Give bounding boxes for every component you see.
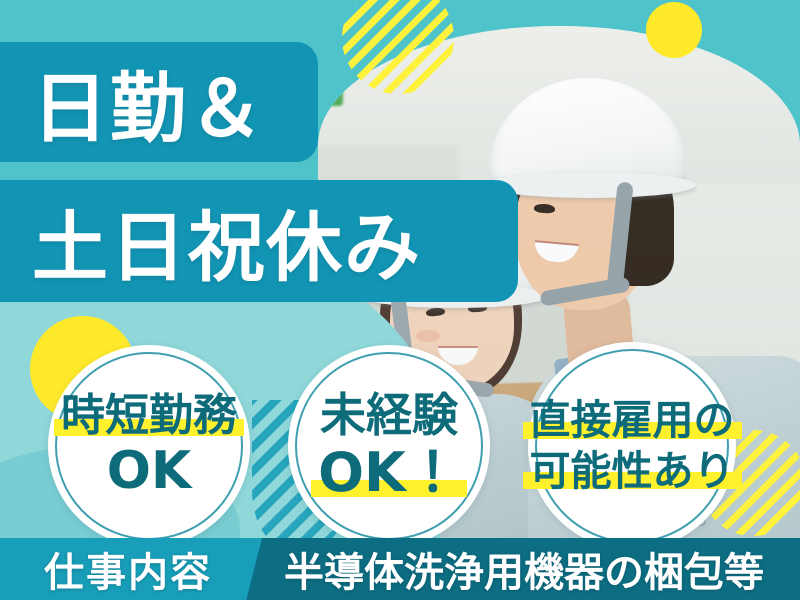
badge-no-experience: 未経験 OK！ — [288, 345, 490, 547]
bottom-bar-label: 仕事内容 — [44, 540, 212, 598]
badge-no-experience-line2: OK！ — [318, 444, 460, 501]
badge-short-hours-line2: OK — [107, 444, 192, 499]
headline-banner-secondary: 土日祝休み — [0, 180, 518, 302]
badge-short-hours: 時短勤務 OK — [48, 345, 250, 547]
badge-direct-employment-line1: 直接雇用の — [530, 399, 735, 442]
badge-short-hours-line1: 時短勤務 — [61, 393, 237, 440]
headline-text-line2: 土日祝休み — [32, 186, 422, 296]
dot-yellow-top-right-icon — [646, 2, 702, 58]
bottom-bar-label-section: 仕事内容 — [0, 538, 262, 600]
job-ad-banner: 日勤＆ 土日祝休み 時短勤務 OK 未経験 OK！ 直接雇用の 可能性あり 仕事… — [0, 0, 800, 600]
headline-text-line1: 日勤＆ — [32, 47, 266, 157]
bottom-bar-value: 半導体洗浄用機器の梱包等 — [284, 540, 764, 598]
badge-direct-employment-line2: 可能性あり — [530, 450, 735, 493]
bottom-bar: 仕事内容 半導体洗浄用機器の梱包等 — [0, 538, 800, 600]
headline-banner-primary: 日勤＆ — [0, 42, 318, 162]
badge-no-experience-line1: 未経験 — [320, 391, 458, 440]
badge-direct-employment: 直接雇用の 可能性あり — [528, 342, 736, 550]
